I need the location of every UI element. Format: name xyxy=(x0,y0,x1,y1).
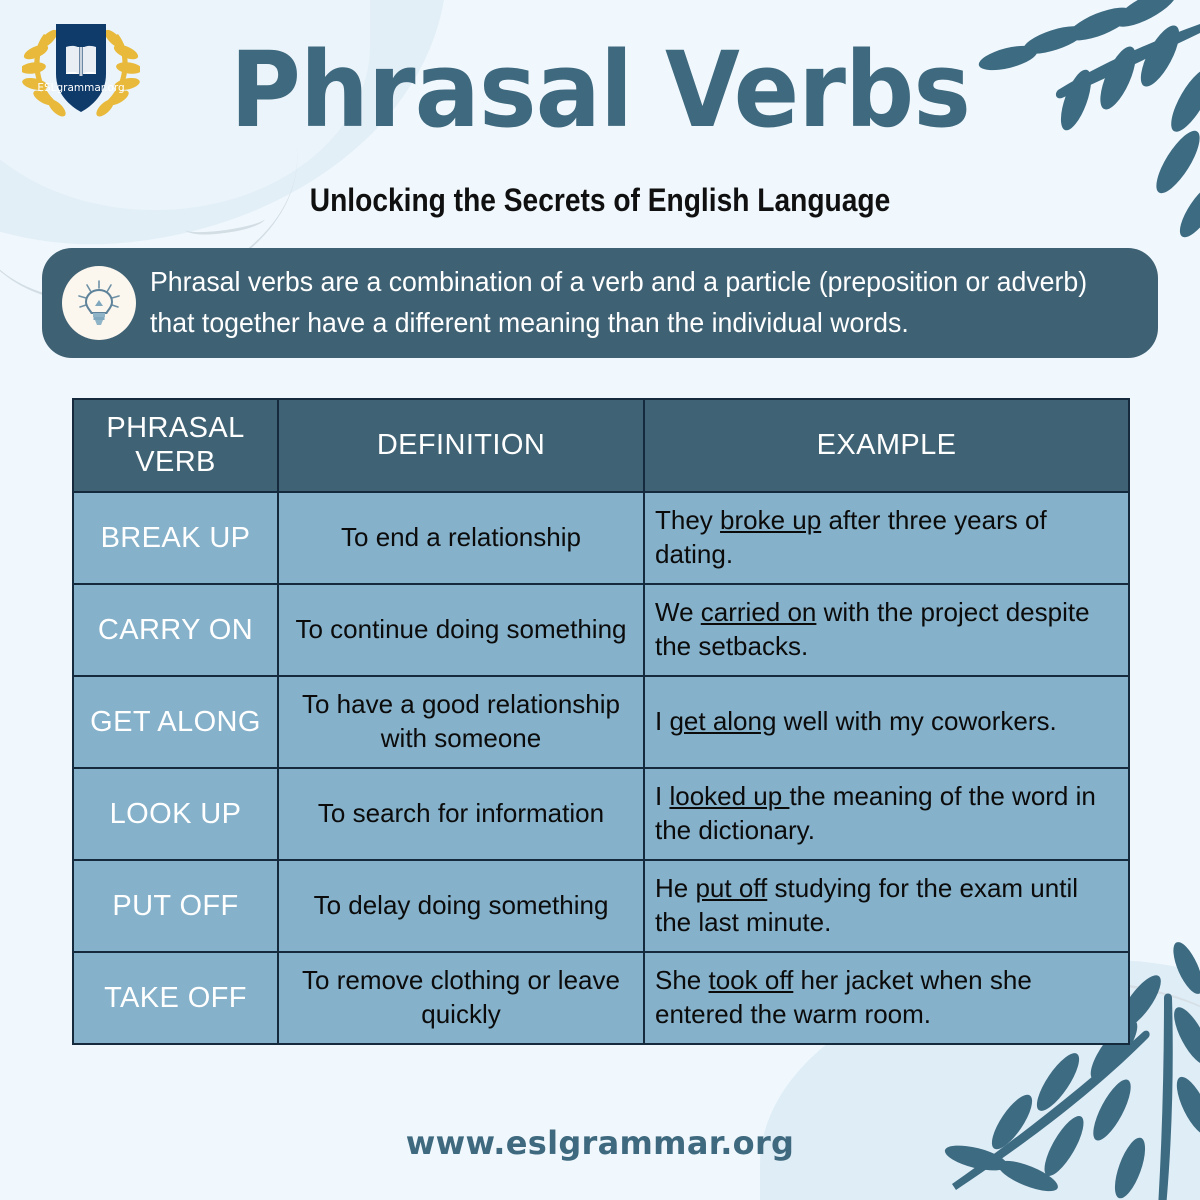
cell-definition: To have a good relationship with someone xyxy=(278,676,644,768)
definition-callout: Phrasal verbs are a combination of a ver… xyxy=(42,248,1158,358)
cell-example: She took off her jacket when she entered… xyxy=(644,952,1129,1044)
callout-text: Phrasal verbs are a combination of a ver… xyxy=(150,262,1103,343)
cell-example: He put off studying for the exam until t… xyxy=(644,860,1129,952)
table-row: CARRY ONTo continue doing somethingWe ca… xyxy=(73,584,1129,676)
example-highlight: put off xyxy=(695,873,767,903)
page-title: Phrasal Verbs xyxy=(42,38,1158,142)
cell-phrasal-verb: TAKE OFF xyxy=(73,952,278,1044)
cell-example: I looked up the meaning of the word in t… xyxy=(644,768,1129,860)
table-row: BREAK UPTo end a relationshipThey broke … xyxy=(73,492,1129,584)
table-header-row: PHRASAL VERB DEFINITION EXAMPLE xyxy=(73,399,1129,492)
cell-phrasal-verb: LOOK UP xyxy=(73,768,278,860)
table-row: TAKE OFFTo remove clothing or leave quic… xyxy=(73,952,1129,1044)
infographic-page: ESLgrammar.org ESLgrammar.or xyxy=(0,0,1200,1200)
table-row: LOOK UPTo search for informationI looked… xyxy=(73,768,1129,860)
cell-definition: To end a relationship xyxy=(278,492,644,584)
example-prefix: He xyxy=(655,873,695,903)
column-header-example: EXAMPLE xyxy=(644,399,1129,492)
phrasal-verbs-table: PHRASAL VERB DEFINITION EXAMPLE BREAK UP… xyxy=(72,398,1130,1045)
cell-example: We carried on with the project despite t… xyxy=(644,584,1129,676)
cell-example: I get along well with my coworkers. xyxy=(644,676,1129,768)
example-suffix: well with my coworkers. xyxy=(776,706,1056,736)
column-header-line2: VERB xyxy=(135,446,216,478)
example-highlight: get along xyxy=(669,706,776,736)
cell-phrasal-verb: PUT OFF xyxy=(73,860,278,952)
example-highlight: took off xyxy=(709,965,794,995)
cell-phrasal-verb: CARRY ON xyxy=(73,584,278,676)
column-header-definition: DEFINITION xyxy=(278,399,644,492)
example-prefix: I xyxy=(655,706,669,736)
cell-phrasal-verb: GET ALONG xyxy=(73,676,278,768)
lightbulb-icon xyxy=(74,278,124,328)
cell-example: They broke up after three years of datin… xyxy=(644,492,1129,584)
example-prefix: I xyxy=(655,781,669,811)
cell-definition: To remove clothing or leave quickly xyxy=(278,952,644,1044)
footer-url: www.eslgrammar.org xyxy=(0,1124,1200,1162)
example-prefix: We xyxy=(655,597,701,627)
cell-definition: To search for information xyxy=(278,768,644,860)
example-highlight: carried on xyxy=(701,597,817,627)
example-highlight: looked up xyxy=(669,781,789,811)
table-body: BREAK UPTo end a relationshipThey broke … xyxy=(73,492,1129,1044)
example-prefix: They xyxy=(655,505,720,535)
column-header-phrasal-verb: PHRASAL VERB xyxy=(73,399,278,492)
phrasal-verbs-table-wrap: PHRASAL VERB DEFINITION EXAMPLE BREAK UP… xyxy=(72,398,1128,1045)
column-header-line1: PHRASAL xyxy=(106,412,244,444)
lightbulb-badge xyxy=(62,266,136,340)
example-prefix: She xyxy=(655,965,709,995)
example-highlight: broke up xyxy=(720,505,821,535)
cell-phrasal-verb: BREAK UP xyxy=(73,492,278,584)
page-subtitle: Unlocking the Secrets of English Languag… xyxy=(72,182,1128,219)
table-row: PUT OFFTo delay doing somethingHe put of… xyxy=(73,860,1129,952)
table-row: GET ALONGTo have a good relationship wit… xyxy=(73,676,1129,768)
cell-definition: To continue doing something xyxy=(278,584,644,676)
cell-definition: To delay doing something xyxy=(278,860,644,952)
